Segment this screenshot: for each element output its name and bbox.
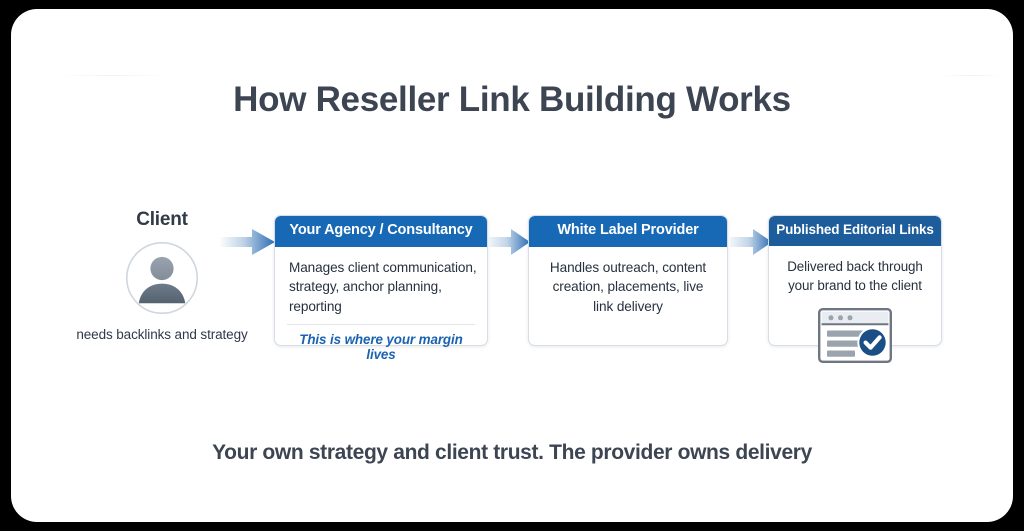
published-link-graphic: [818, 308, 892, 363]
step-card-agency[interactable]: Your Agency / Consultancy Manages client…: [274, 215, 488, 346]
step-card-agency-footnote: This is where your margin lives: [275, 325, 487, 362]
avatar: [125, 241, 199, 315]
step-card-published-links-header: Published Editorial Links: [769, 216, 941, 246]
process-flow: Client: [11, 205, 1013, 365]
diagram-frame: How Reseller Link Building Works Client: [11, 9, 1013, 522]
step-card-agency-body: Manages client communication, strategy, …: [275, 247, 487, 316]
top-hairline-left: [57, 75, 169, 76]
page-title: How Reseller Link Building Works: [11, 79, 1013, 120]
step-card-published-links-body: Delivered back through your brand to the…: [769, 246, 941, 295]
top-hairline-right: [941, 75, 1001, 76]
arrow-client-to-agency: [219, 227, 275, 257]
arrow-agency-to-provider: [488, 227, 530, 257]
step-card-provider-header: White Label Provider: [529, 216, 727, 247]
bottom-caption: Your own strategy and client trust. The …: [11, 441, 1013, 465]
step-card-provider-body: Handles outreach, content creation, plac…: [529, 247, 727, 316]
step-card-published-links[interactable]: Published Editorial Links Delivered back…: [768, 215, 942, 346]
arrow-right-icon: [219, 227, 275, 257]
arrow-provider-to-links: [730, 227, 772, 257]
browser-window-check-icon: [818, 308, 892, 363]
step-card-provider[interactable]: White Label Provider Handles outreach, c…: [528, 215, 728, 346]
arrow-right-icon: [488, 227, 530, 257]
diagram-canvas: How Reseller Link Building Works Client: [0, 0, 1024, 531]
step-card-agency-header: Your Agency / Consultancy: [275, 216, 487, 247]
arrow-right-icon: [730, 227, 772, 257]
user-avatar-icon: [125, 241, 199, 315]
client-caption: needs backlinks and strategy: [73, 327, 251, 342]
